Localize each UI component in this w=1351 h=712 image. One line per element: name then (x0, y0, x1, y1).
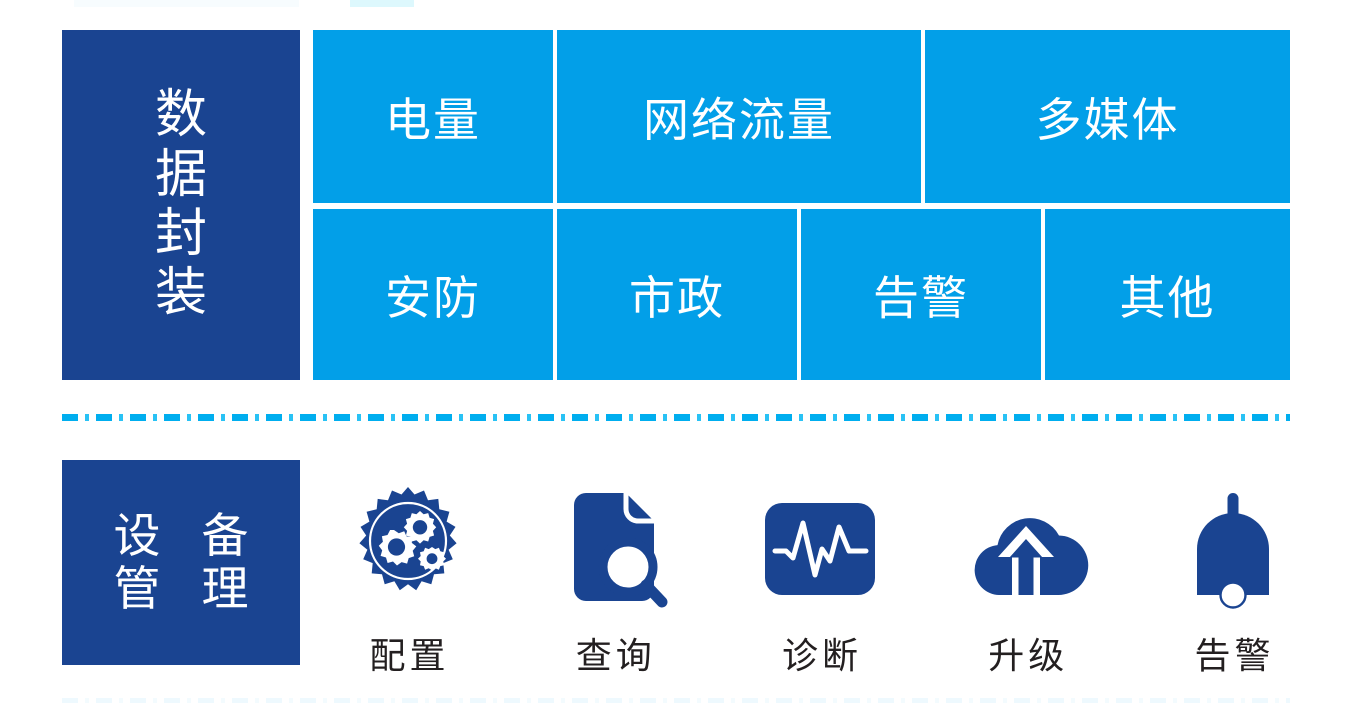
panel-char-1: 数 (155, 86, 207, 145)
device-panel-row-2: 管 理 (99, 563, 262, 616)
panel-char-4: 装 (155, 264, 207, 323)
section-divider-dashed (62, 414, 1290, 421)
category-cell-alarm[interactable]: 告警 (801, 209, 1041, 380)
cloud-upload-icon (961, 485, 1091, 613)
panel-char-3: 封 (155, 205, 207, 264)
function-item-alarm[interactable]: 告警 (1145, 485, 1320, 679)
function-item-upgrade[interactable]: 升级 (939, 485, 1114, 679)
function-item-diagnosis[interactable]: 诊断 (733, 485, 908, 679)
function-label-upgrade: 升级 (984, 627, 1068, 679)
category-cell-network[interactable]: 网络流量 (557, 30, 921, 203)
data-encapsulation-panel: 数 据 封 装 (62, 30, 300, 380)
category-cell-other[interactable]: 其他 (1045, 209, 1290, 380)
function-label-diagnosis: 诊断 (778, 627, 862, 679)
function-label-alarm: 告警 (1190, 627, 1274, 679)
category-cell-power[interactable]: 电量 (313, 30, 553, 203)
function-label-config: 配置 (365, 627, 449, 679)
device-management-panel: 设 备 管 理 (62, 460, 300, 665)
function-label-query: 查询 (572, 627, 656, 679)
data-encapsulation-section: 数 据 封 装 电量 网络流量 多媒体 安防 市政 告警 其他 (0, 0, 1351, 400)
category-cell-city[interactable]: 市政 (557, 209, 797, 380)
function-item-config[interactable]: 配置 (320, 485, 495, 679)
category-cell-security[interactable]: 安防 (313, 209, 553, 380)
device-management-section: 设 备 管 理 (0, 440, 1351, 700)
function-item-query[interactable]: 查询 (526, 485, 701, 679)
device-panel-row-1: 设 备 (99, 510, 262, 563)
category-cell-media[interactable]: 多媒体 (925, 30, 1290, 203)
bottom-divider-dashed (62, 698, 1290, 703)
panel-char-2: 据 (155, 146, 207, 205)
bell-icon (1168, 485, 1298, 613)
document-search-icon (549, 485, 679, 613)
infographic-root: 数 据 封 装 电量 网络流量 多媒体 安防 市政 告警 其他 设 备 管 理 (0, 0, 1351, 712)
waveform-icon (755, 485, 885, 613)
gears-icon (343, 485, 473, 613)
device-function-list: 配置 查询 (320, 454, 1320, 679)
